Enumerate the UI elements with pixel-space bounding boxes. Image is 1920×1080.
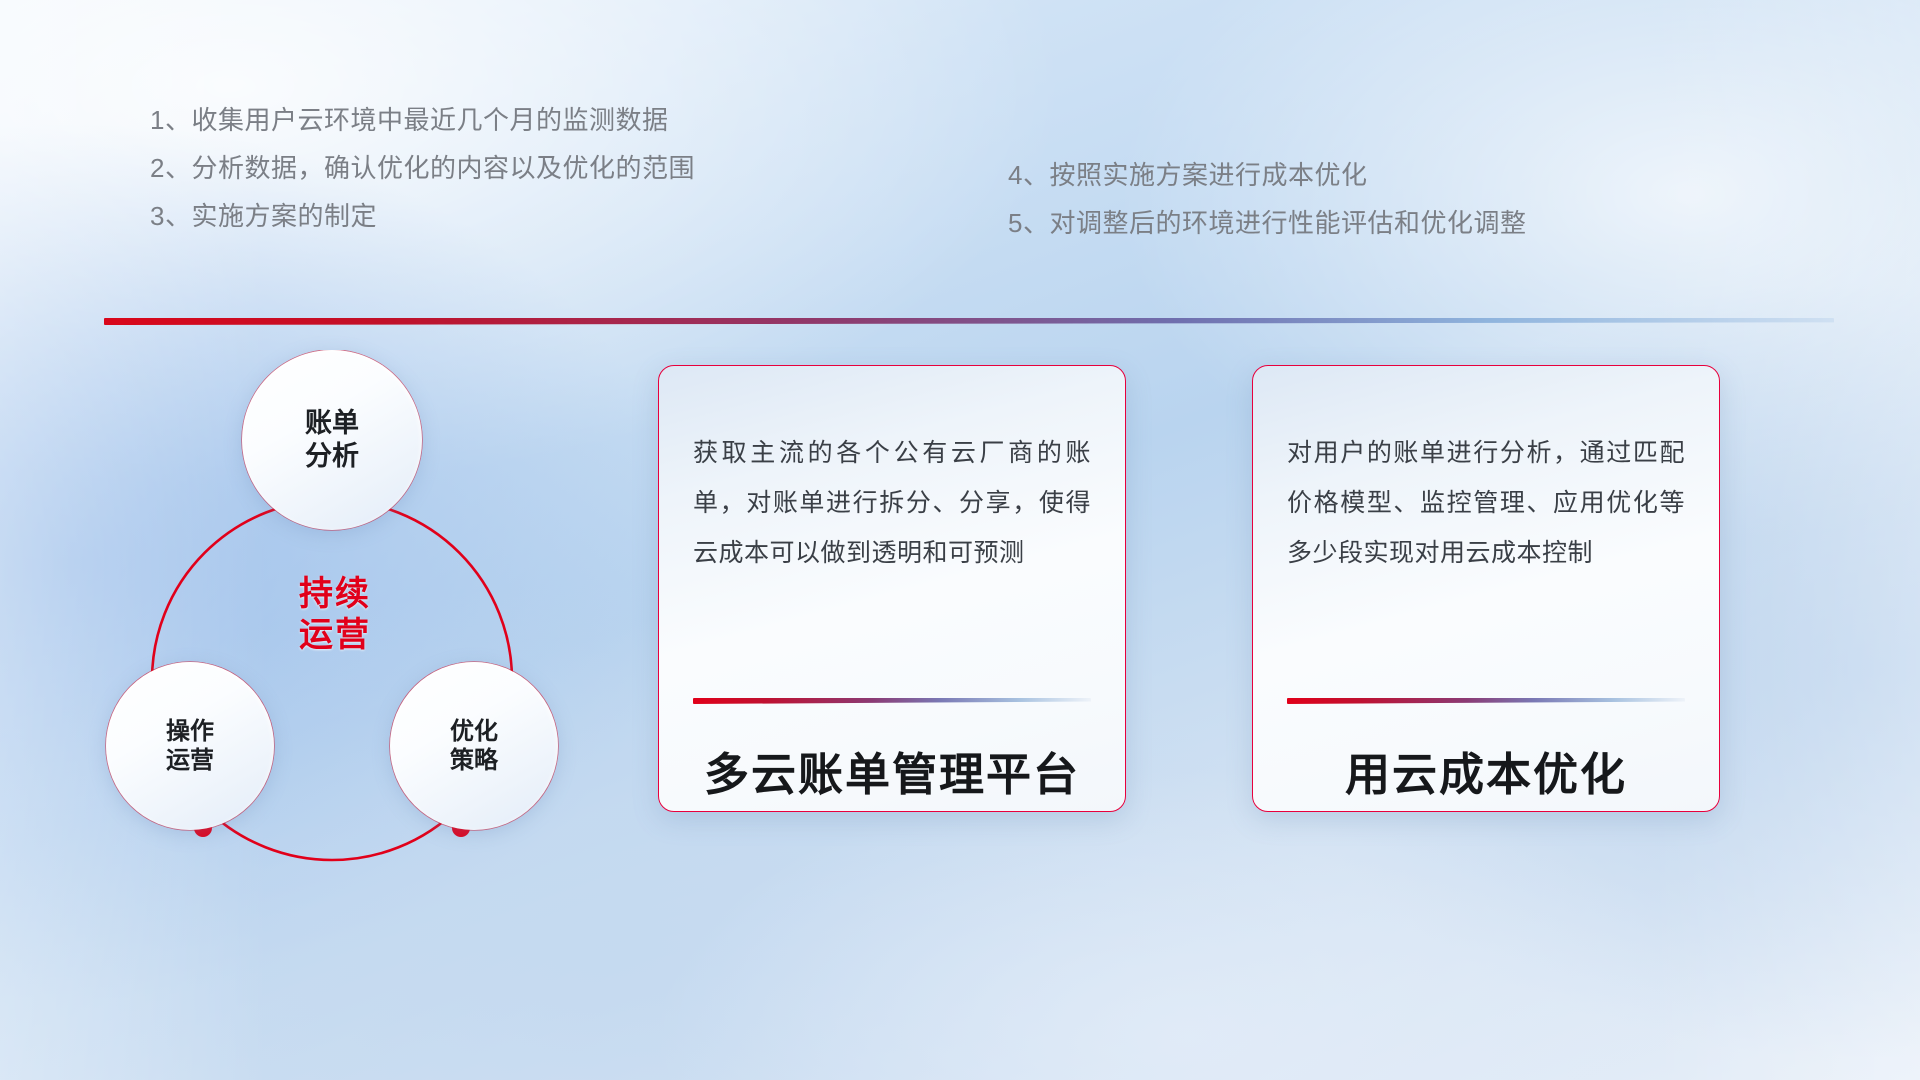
- venn-center-line1: 持续: [299, 574, 371, 615]
- venn-bubble-optimization-strategy[interactable]: 优化 策略: [390, 662, 558, 830]
- venn-diagram: 账单 分析 操作 运营 优化 策略 持续 运营: [100, 350, 630, 960]
- step-item: 1、收集用户云环境中最近几个月的监测数据: [150, 96, 695, 144]
- feature-card-cost-optimization[interactable]: 对用户的账单进行分析，通过匹配价格模型、监控管理、应用优化等多少段实现对用云成本…: [1252, 365, 1720, 812]
- venn-bubble-billing-analysis[interactable]: 账单 分析: [242, 350, 422, 530]
- step-item: 2、分析数据，确认优化的内容以及优化的范围: [150, 144, 695, 192]
- bubble-label-line2: 运营: [166, 746, 214, 775]
- step-list-right: 4、按照实施方案进行成本优化 5、对调整后的环境进行性能评估和优化调整: [1008, 151, 1526, 247]
- step-item: 4、按照实施方案进行成本优化: [1008, 151, 1526, 199]
- feature-card-multicloud-billing[interactable]: 获取主流的各个公有云厂商的账单，对账单进行拆分、分享，使得云成本可以做到透明和可…: [658, 365, 1126, 812]
- step-item: 3、实施方案的制定: [150, 192, 695, 240]
- bubble-label-line2: 分析: [305, 440, 359, 473]
- card-body-text: 获取主流的各个公有云厂商的账单，对账单进行拆分、分享，使得云成本可以做到透明和可…: [693, 428, 1091, 578]
- step-list-left: 1、收集用户云环境中最近几个月的监测数据 2、分析数据，确认优化的内容以及优化的…: [150, 96, 695, 240]
- bubble-label-line2: 策略: [450, 746, 498, 775]
- step-item: 5、对调整后的环境进行性能评估和优化调整: [1008, 199, 1526, 247]
- venn-bubble-operations[interactable]: 操作 运营: [106, 662, 274, 830]
- venn-center-label: 持续 运营: [250, 550, 420, 680]
- bubble-label-line1: 账单: [305, 407, 359, 440]
- card-title: 多云账单管理平台: [659, 738, 1125, 803]
- card-body-text: 对用户的账单进行分析，通过匹配价格模型、监控管理、应用优化等多少段实现对用云成本…: [1287, 428, 1685, 578]
- bubble-label-line1: 优化: [450, 717, 498, 746]
- bubble-label-line1: 操作: [166, 717, 214, 746]
- venn-center-line2: 运营: [299, 615, 371, 656]
- card-title: 用云成本优化: [1253, 738, 1719, 803]
